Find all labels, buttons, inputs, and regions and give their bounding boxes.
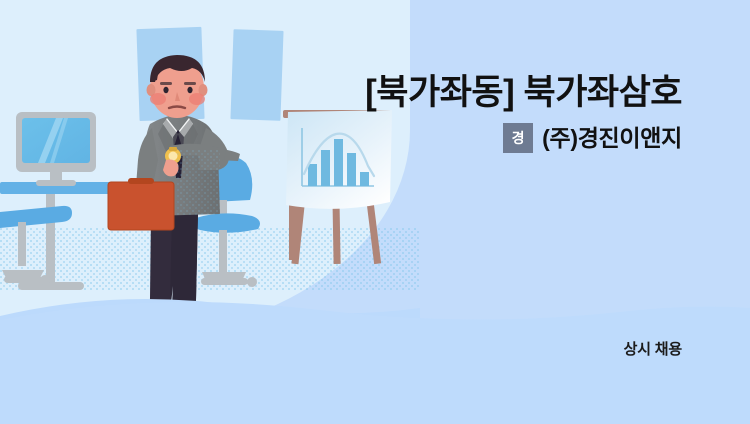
posting-text-block: [북가좌동] 북가좌삼호 경 (주)경진이앤지: [182, 70, 682, 153]
chart-bar-2: [321, 150, 330, 186]
company-row: 경 (주)경진이앤지: [182, 123, 682, 153]
job-posting-banner: [북가좌동] 북가좌삼호 경 (주)경진이앤지 상시 채용: [0, 0, 750, 424]
company-logo-badge: 경: [503, 123, 533, 153]
chart-bar-4: [347, 153, 356, 186]
briefcase: [108, 178, 174, 230]
company-name[interactable]: (주)경진이앤지: [542, 124, 682, 152]
page-title: [북가좌동] 북가좌삼호: [182, 70, 682, 116]
monitor: [16, 112, 96, 186]
chart-bar-5: [360, 172, 369, 186]
status-badge: 상시 채용: [624, 338, 682, 359]
chart-bar-1: [308, 164, 317, 186]
